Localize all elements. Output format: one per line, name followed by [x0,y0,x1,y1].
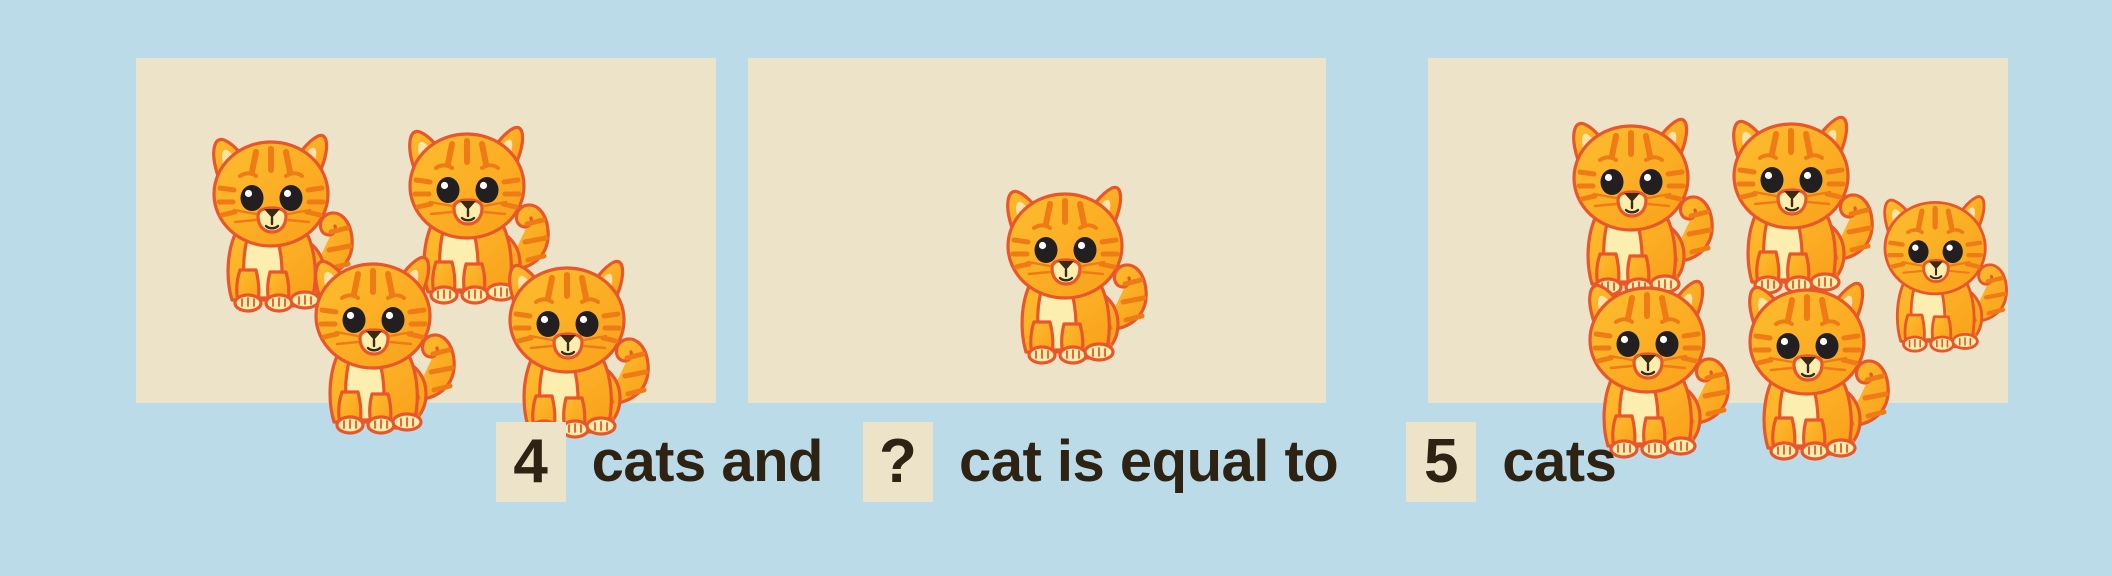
worksheet-canvas: 4 cats and ? cat is equal to 5 cats [0,0,2112,576]
second-addend-panel [748,58,1326,403]
answer-input-box[interactable]: ? [863,422,933,502]
second-addend-cat-group [748,58,1326,403]
sum-panel [1428,58,2008,403]
cat-illustration [966,162,1166,382]
first-addend-panel [136,58,716,403]
first-number-box[interactable]: 4 [496,422,566,502]
result-number-box[interactable]: 5 [1406,422,1476,502]
result-label: cats [1502,433,1616,491]
sum-cat-group [1428,58,2008,403]
first-addend-cat-group [136,58,716,403]
first-label: cats and [592,433,823,491]
second-label: cat is equal to [959,433,1338,491]
equation-row: 4 cats and ? cat is equal to 5 cats [0,416,2112,508]
